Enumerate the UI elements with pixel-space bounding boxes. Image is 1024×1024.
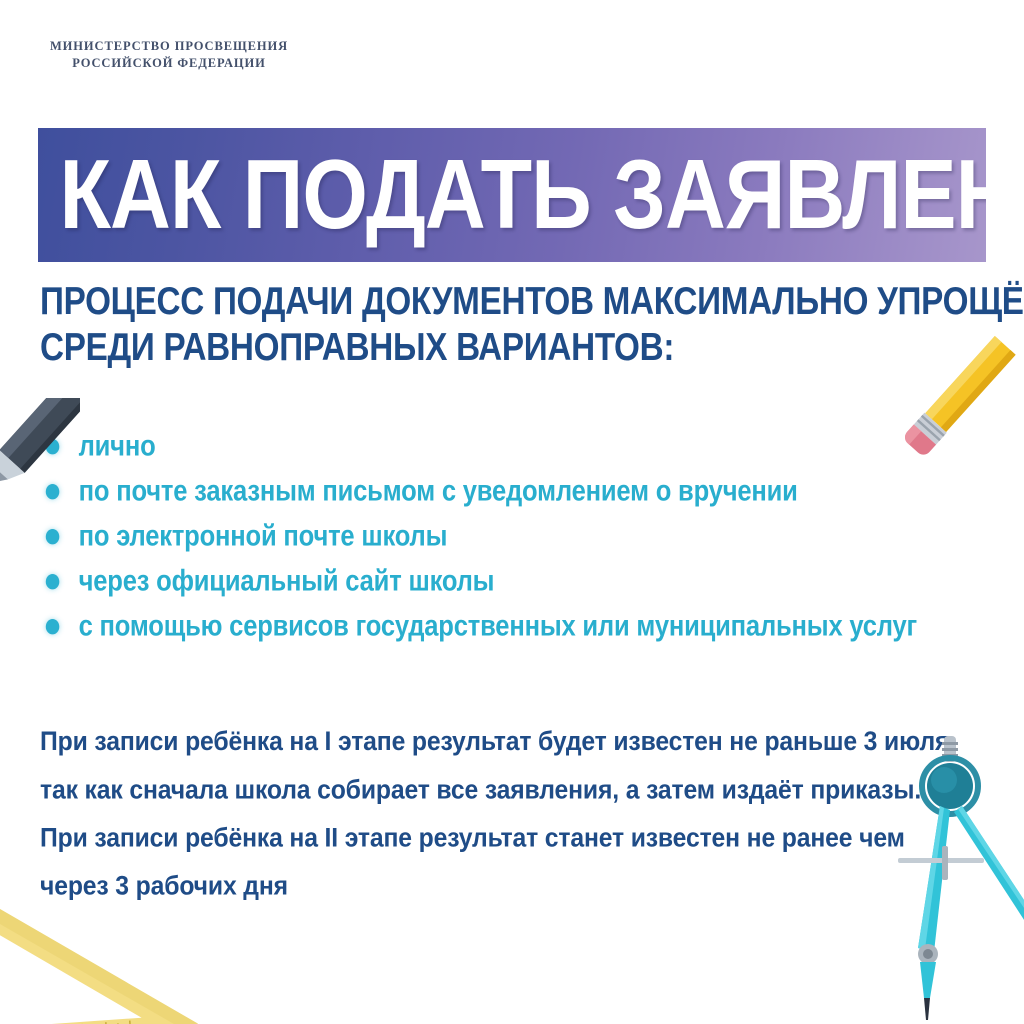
list-item-label: через официальный сайт школы	[79, 564, 495, 597]
ministry-logo-line-2: РОССИЙСКОЙ ФЕДЕРАЦИИ	[44, 55, 294, 72]
list-item-label: по почте заказным письмом с уведомлением…	[79, 474, 798, 507]
bullet-dot-icon	[46, 529, 60, 544]
list-item: по почте заказным письмом с уведомлением…	[40, 473, 966, 510]
list-item-label: с помощью сервисов государственных или м…	[79, 609, 917, 642]
page-title: КАК ПОДАТЬ ЗАЯВЛЕНИЕ?	[38, 146, 986, 244]
ministry-logo: МИНИСТЕРСТВО ПРОСВЕЩЕНИЯ РОССИЙСКОЙ ФЕДЕ…	[44, 38, 294, 72]
ministry-logo-line-1: МИНИСТЕРСТВО ПРОСВЕЩЕНИЯ	[44, 38, 294, 55]
bullet-dot-icon	[46, 574, 60, 589]
list-item-label: лично	[79, 429, 156, 462]
subtitle-line-2: СРЕДИ РАВНОПРАВНЫХ ВАРИАНТОВ:	[40, 324, 952, 370]
pencil-icon	[886, 318, 1024, 468]
title-banner: КАК ПОДАТЬ ЗАЯВЛЕНИЕ?	[38, 128, 986, 262]
list-item: по электронной почте школы	[40, 518, 966, 555]
bullet-dot-icon	[46, 619, 60, 634]
triangle-ruler-icon	[0, 844, 226, 1024]
subtitle: ПРОЦЕСС ПОДАЧИ ДОКУМЕНТОВ МАКСИМАЛЬНО УП…	[40, 278, 952, 371]
compass-icon	[878, 730, 1024, 1024]
subtitle-line-1: ПРОЦЕСС ПОДАЧИ ДОКУМЕНТОВ МАКСИМАЛЬНО УП…	[40, 278, 952, 324]
list-item: с помощью сервисов государственных или м…	[40, 608, 966, 645]
list-item-label: по электронной почте школы	[79, 519, 448, 552]
options-list: лично по почте заказным письмом с уведом…	[40, 428, 1000, 653]
footer-note-line-1: При записи ребёнка на I этапе результат …	[40, 718, 942, 766]
footer-note-line-2: так как сначала школа собирает все заявл…	[40, 766, 942, 814]
infographic-page: МИНИСТЕРСТВО ПРОСВЕЩЕНИЯ РОССИЙСКОЙ ФЕДЕ…	[0, 0, 1024, 1024]
list-item: лично	[40, 428, 966, 465]
list-item: через официальный сайт школы	[40, 563, 966, 600]
pen-tip-icon	[0, 398, 80, 508]
